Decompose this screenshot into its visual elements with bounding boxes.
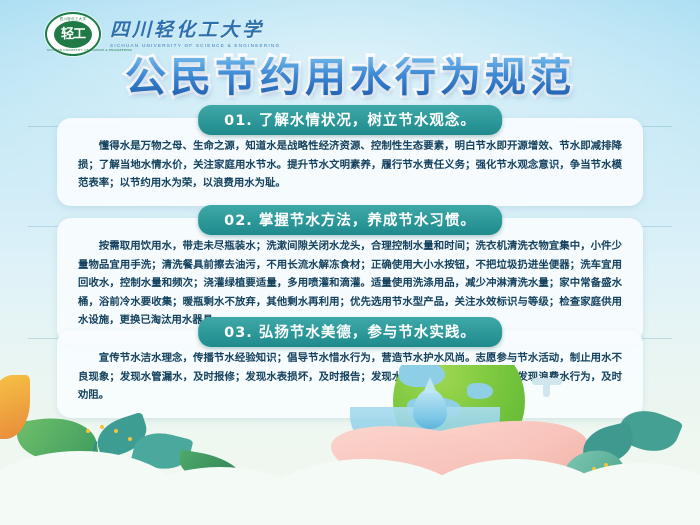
logo-arc-bottom-text: SICHUAN UNIVERSITY OF SCIENCE & ENGINEER… — [47, 48, 99, 52]
page-title: 公民节约用水行为规范 — [0, 57, 700, 98]
section-pill-1[interactable]: 01. 了解水情状况，树立节水观念。 — [198, 105, 502, 135]
brand-lockup: 四川轻化工大学 轻工 SICHUAN UNIVERSITY OF SCIENCE… — [45, 12, 280, 56]
flower-dot-1 — [86, 429, 90, 433]
university-logo-icon: 四川轻化工大学 轻工 SICHUAN UNIVERSITY OF SCIENCE… — [45, 12, 101, 56]
logo-glyph: 轻工 — [61, 28, 85, 41]
bottom-illustration — [0, 365, 700, 525]
globe-water-4 — [467, 383, 493, 399]
section-pill-3[interactable]: 03. 弘扬节水美德，参与节水实践。 — [198, 317, 502, 347]
logo-inner-oval: 轻工 — [54, 21, 92, 48]
logo-arc-top-text: 四川轻化工大学 — [47, 16, 99, 21]
globe-water-1 — [399, 365, 445, 387]
university-name-block: 四川轻化工大学 SICHUAN UNIVERSITY OF SCIENCE & … — [110, 20, 280, 48]
flower-dot-4 — [128, 437, 132, 441]
university-name-cn: 四川轻化工大学 — [110, 20, 280, 41]
university-name-en: SICHUAN UNIVERSITY OF SCIENCE & ENGINEER… — [110, 43, 280, 48]
faucet-icon — [532, 378, 562, 385]
flower-dot-2 — [100, 425, 104, 429]
section-card-1: 01. 了解水情状况，树立节水观念。 懂得水是万物之母、生命之源，知道水是战略性… — [57, 118, 643, 206]
cloud-base — [0, 489, 700, 525]
poster-canvas: 四川轻化工大学 轻工 SICHUAN UNIVERSITY OF SCIENCE… — [0, 0, 700, 525]
flower-dot-3 — [114, 429, 118, 433]
section-pill-2[interactable]: 02. 掌握节水方法，养成节水习惯。 — [198, 205, 502, 235]
